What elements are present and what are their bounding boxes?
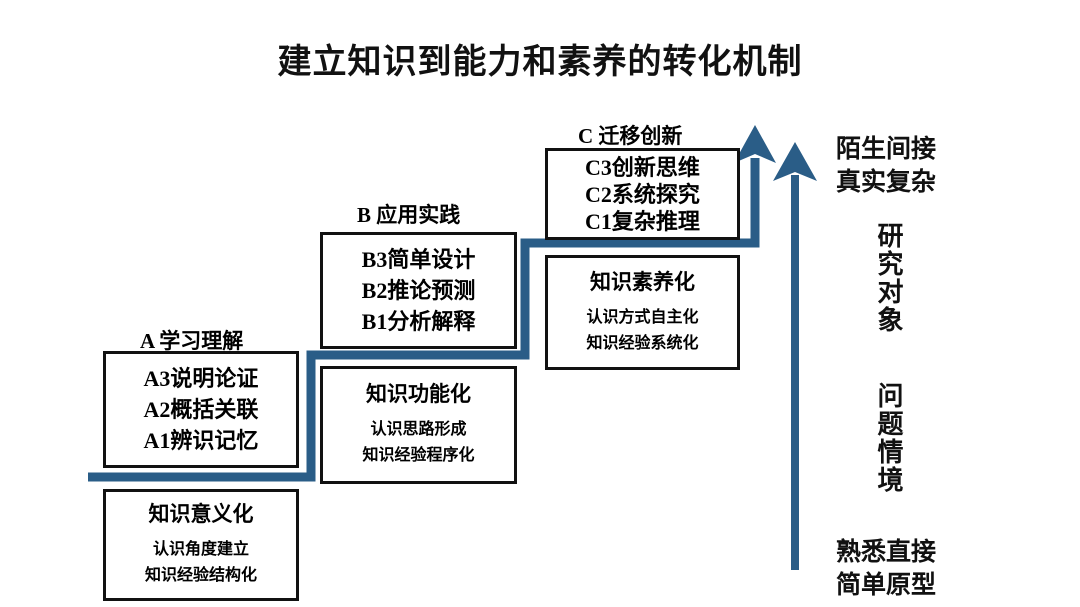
outcome-3-line-2: 知识经验系统化: [586, 331, 698, 357]
outcome-2-line-1: 认识思路形成: [370, 417, 466, 443]
level-c-item-2: C2系统探究: [585, 181, 700, 208]
level-box-b: B3简单设计 B2推论预测 B1分析解释: [320, 232, 517, 349]
level-a-item-3: A1辨识记忆: [144, 425, 259, 456]
level-c-item-1: C3创新思维: [585, 154, 700, 181]
level-b-item-2: B2推论预测: [362, 275, 476, 306]
outcome-3-title: 知识素养化: [590, 269, 695, 297]
level-c-item-3: C1复杂推理: [585, 208, 700, 235]
level-caption-b: B 应用实践: [357, 199, 460, 229]
axis-vertical-label-problem-context: 问题情境: [871, 382, 907, 494]
level-a-item-2: A2概括关联: [144, 394, 259, 425]
outcome-1-line-2: 知识经验结构化: [145, 563, 257, 589]
staircase-arrowhead: [734, 125, 776, 163]
outcome-2-line-2: 知识经验程序化: [362, 443, 474, 469]
outcome-3-line-1: 认识方式自主化: [586, 305, 698, 331]
outcome-box-function: 知识功能化 认识思路形成 知识经验程序化: [320, 366, 517, 484]
level-box-c: C3创新思维 C2系统探究 C1复杂推理: [545, 148, 740, 240]
diagram-canvas: 建立知识到能力和素养的转化机制 A 学习理解 A3说明论证 A2概括关联 A1辨…: [0, 0, 1080, 607]
outcome-2-title: 知识功能化: [366, 381, 471, 409]
outcome-box-literacy: 知识素养化 认识方式自主化 知识经验系统化: [545, 255, 740, 370]
level-b-item-1: B3简单设计: [362, 244, 476, 275]
axis-vertical-label-research-object: 研究对象: [871, 222, 907, 334]
level-a-item-1: A3说明论证: [144, 363, 259, 394]
level-box-a: A3说明论证 A2概括关联 A1辨识记忆: [103, 351, 299, 468]
axis-top-label-line-2: 真实复杂: [836, 166, 936, 199]
outcome-1-title: 知识意义化: [149, 501, 254, 529]
level-b-item-3: B1分析解释: [362, 306, 476, 337]
outcome-1-line-1: 认识角度建立: [153, 537, 249, 563]
progress-axis-arrowhead: [773, 142, 817, 181]
axis-bottom-label-line-1: 熟悉直接: [836, 536, 936, 569]
level-caption-c: C 迁移创新: [578, 120, 682, 150]
outcome-box-meaning: 知识意义化 认识角度建立 知识经验结构化: [103, 489, 299, 601]
page-title: 建立知识到能力和素养的转化机制: [0, 34, 1080, 83]
axis-bottom-label-line-2: 简单原型: [836, 569, 936, 602]
axis-top-label-line-1: 陌生间接: [836, 133, 936, 166]
